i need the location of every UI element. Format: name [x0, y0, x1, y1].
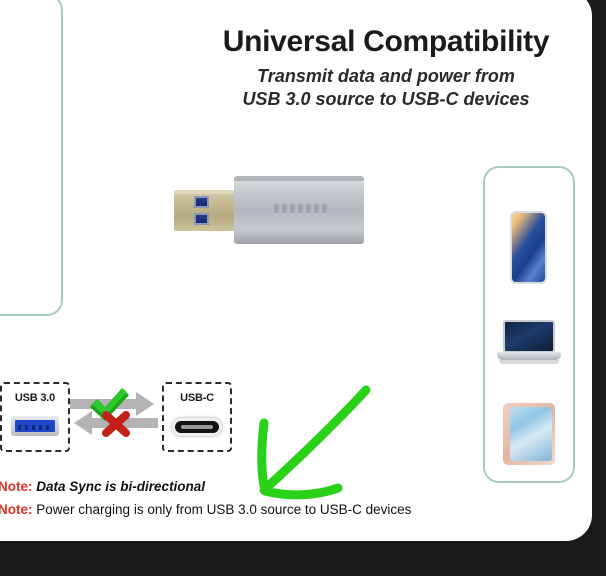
target-devices-panel	[483, 166, 575, 483]
direction-flow-diagram: USB 3.0	[0, 382, 228, 454]
usb-c-port-icon	[172, 418, 222, 436]
laptop-screen	[503, 320, 555, 353]
subtitle-line-1: Transmit data and power from	[186, 66, 586, 87]
laptop-icon	[497, 320, 561, 367]
tablet-icon	[503, 403, 555, 465]
usb-a-port-icon	[11, 416, 59, 436]
note-1-value: Data Sync is bi-directional	[36, 479, 205, 494]
adapter-body	[234, 176, 364, 244]
usb3-label: USB 3.0	[2, 392, 68, 404]
product-infographic-card: Universal Compatibility Transmit data an…	[0, 0, 592, 541]
source-devices-panel	[0, 0, 63, 316]
phone-frame	[510, 211, 547, 284]
hand-drawn-arrow-annotation	[234, 378, 404, 508]
screenshot-root: Universal Compatibility Transmit data an…	[0, 0, 606, 576]
usb-a-connector	[174, 190, 240, 231]
usb3-port-box: USB 3.0	[0, 382, 70, 452]
usb-a-port-slot	[15, 420, 55, 432]
brand-logo	[274, 204, 330, 213]
usb-contact	[194, 213, 209, 225]
tablet-screen	[510, 407, 552, 461]
note-2: Note: Power charging is only from USB 3.…	[0, 502, 411, 517]
usbc-port-box: USB-C	[162, 382, 232, 452]
usb-c-port-slot	[175, 421, 219, 433]
subtitle-line-2: USB 3.0 source to USB-C devices	[186, 89, 586, 110]
note-1: Note: Data Sync is bi-directional	[0, 479, 205, 494]
direction-arrows	[66, 382, 162, 448]
note-2-key: Note:	[0, 502, 33, 517]
note-1-key: Note:	[0, 479, 33, 494]
arrows-svg	[66, 382, 162, 448]
tablet-frame	[503, 403, 555, 465]
usbc-label: USB-C	[164, 392, 230, 404]
laptop-base	[497, 352, 561, 360]
page-title: Universal Compatibility	[186, 26, 586, 58]
usb-contact	[194, 196, 209, 208]
usb-adapter-product	[174, 176, 364, 244]
smartphone-icon	[510, 211, 547, 284]
note-2-value: Power charging is only from USB 3.0 sour…	[36, 502, 411, 517]
laptop-foot	[499, 360, 559, 364]
phone-screen	[512, 213, 545, 282]
